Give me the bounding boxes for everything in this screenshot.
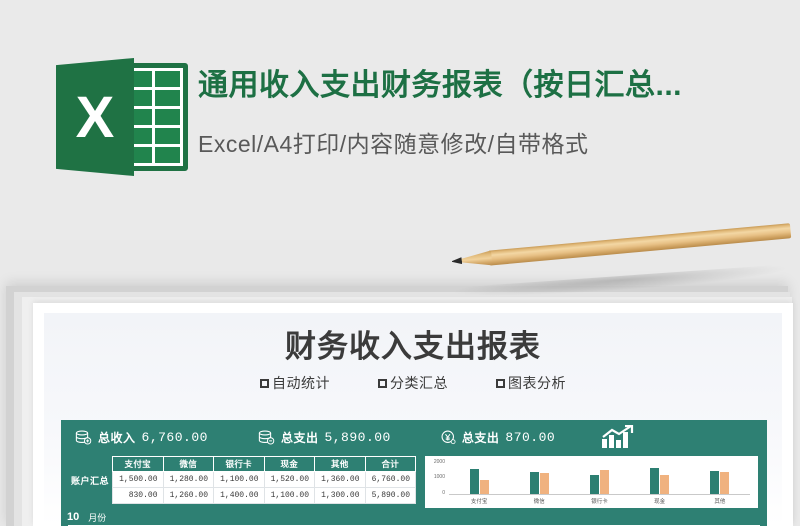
feature-checkbox-row: 自动统计 分类汇总 图表分析 xyxy=(44,373,782,393)
metric-label: 总收入 xyxy=(98,429,136,446)
table-cell: 5,890.00 xyxy=(365,488,416,504)
metric-value: 870.00 xyxy=(505,430,555,445)
metric-value: 6,760.00 xyxy=(142,430,208,445)
month-number: 10 xyxy=(67,511,79,523)
table-cell: 1,300.00 xyxy=(315,488,366,504)
database-minus-icon xyxy=(258,430,275,445)
account-table-row-label: 账户汇总 xyxy=(68,456,112,504)
pencil-tip-wood xyxy=(459,250,492,268)
checkbox-category-summary[interactable]: 分类汇总 xyxy=(378,373,448,393)
checkbox-label: 图表分析 xyxy=(508,373,566,393)
checkbox-square-icon xyxy=(496,379,505,388)
table-cell: 1,100.00 xyxy=(214,472,265,488)
month-selector-strip[interactable]: 10 月份 xyxy=(61,510,767,524)
spreadsheet-page: 财务收入支出报表 自动统计 分类汇总 图表分析 xyxy=(44,313,782,526)
x-tick-label: 现金 xyxy=(648,497,672,505)
banner-title: 通用收入支出财务报表（按日汇总... xyxy=(198,64,798,108)
account-bar-chart: 2000 1000 0 xyxy=(425,456,758,508)
metric-label: 总支出 xyxy=(281,429,319,446)
document-preview-card[interactable]: 财务收入支出报表 自动统计 分类汇总 图表分析 xyxy=(33,303,793,526)
x-tick-label: 银行卡 xyxy=(587,497,611,505)
database-plus-icon xyxy=(75,430,92,445)
bar-expense xyxy=(480,480,489,494)
account-summary-table-wrap: 账户汇总 支付宝 微信 银行卡 现金 其他 合计 xyxy=(68,456,416,504)
column-header: 合计 xyxy=(365,457,416,472)
bar-income xyxy=(470,469,479,495)
table-cell: 1,400.00 xyxy=(214,488,265,504)
x-tick-label: 其他 xyxy=(708,497,732,505)
dashboard-panel: 总收入 6,760.00 总支出 5,890.00 xyxy=(61,420,767,526)
summary-metrics-row: 总收入 6,760.00 总支出 5,890.00 xyxy=(61,420,767,454)
checkbox-square-icon xyxy=(378,379,387,388)
bar-group xyxy=(470,461,489,494)
bar-expense xyxy=(720,472,729,494)
promo-banner: X 通用收入支出财务报表（按日汇总... Excel/A4打印/内容随意修改/自… xyxy=(0,0,800,240)
bar-group xyxy=(710,461,729,494)
column-header: 微信 xyxy=(163,457,214,472)
table-row: 1,500.00 1,280.00 1,100.00 1,520.00 1,36… xyxy=(113,472,416,488)
metric-balance: 总支出 870.00 xyxy=(441,429,555,446)
trend-up-chart-icon xyxy=(601,425,635,449)
bar-income xyxy=(590,475,599,494)
metric-total-income: 总收入 6,760.00 xyxy=(75,429,208,446)
bar-group xyxy=(530,461,549,494)
bar-income xyxy=(650,468,659,494)
metric-total-expense: 总支出 5,890.00 xyxy=(258,429,391,446)
metric-value: 5,890.00 xyxy=(324,430,390,445)
bar-group xyxy=(650,461,669,494)
table-cell: 830.00 xyxy=(113,488,164,504)
column-header: 支付宝 xyxy=(113,457,164,472)
bar-group xyxy=(590,461,609,494)
chart-x-axis-labels: 支付宝 微信 银行卡 现金 其他 xyxy=(449,497,750,505)
checkbox-square-icon xyxy=(260,379,269,388)
bar-income xyxy=(710,471,719,494)
banner-text-block: 通用收入支出财务报表（按日汇总... Excel/A4打印/内容随意修改/自带格… xyxy=(198,64,798,160)
yuan-circle-icon xyxy=(441,430,456,445)
bar-expense xyxy=(540,473,549,494)
sheet-title: 财务收入支出报表 xyxy=(44,329,782,365)
column-header: 银行卡 xyxy=(214,457,265,472)
y-tick-label: 1000 xyxy=(429,474,445,480)
column-header: 现金 xyxy=(264,457,315,472)
pencil-lead xyxy=(452,257,463,265)
metric-label: 总支出 xyxy=(462,429,500,446)
checkbox-auto-stats[interactable]: 自动统计 xyxy=(260,373,330,393)
month-word-label: 月份 xyxy=(88,511,106,524)
table-cell: 1,280.00 xyxy=(163,472,214,488)
banner-subtitle: Excel/A4打印/内容随意修改/自带格式 xyxy=(198,128,798,160)
table-cell: 1,100.00 xyxy=(264,488,315,504)
bar-expense xyxy=(660,475,669,494)
table-row: 830.00 1,260.00 1,400.00 1,100.00 1,300.… xyxy=(113,488,416,504)
excel-logo-letter: X xyxy=(56,58,134,176)
table-cell: 1,260.00 xyxy=(163,488,214,504)
chart-plot-area xyxy=(449,461,750,495)
checkbox-chart-analysis[interactable]: 图表分析 xyxy=(496,373,566,393)
account-summary-table: 支付宝 微信 银行卡 现金 其他 合计 1,500.00 1,280.00 1, xyxy=(112,456,416,504)
table-cell: 6,760.00 xyxy=(365,472,416,488)
checkbox-label: 分类汇总 xyxy=(390,373,448,393)
x-tick-label: 支付宝 xyxy=(467,497,491,505)
table-header-row: 支付宝 微信 银行卡 现金 其他 合计 xyxy=(113,457,416,472)
table-cell: 1,520.00 xyxy=(264,472,315,488)
y-tick-label: 0 xyxy=(429,490,445,496)
bar-income xyxy=(530,472,539,494)
bar-expense xyxy=(600,470,609,494)
table-cell: 1,500.00 xyxy=(113,472,164,488)
y-tick-label: 2000 xyxy=(429,459,445,465)
table-cell: 1,360.00 xyxy=(315,472,366,488)
x-tick-label: 微信 xyxy=(527,497,551,505)
column-header: 其他 xyxy=(315,457,366,472)
checkbox-label: 自动统计 xyxy=(272,373,330,393)
excel-logo-icon: X xyxy=(56,58,192,176)
